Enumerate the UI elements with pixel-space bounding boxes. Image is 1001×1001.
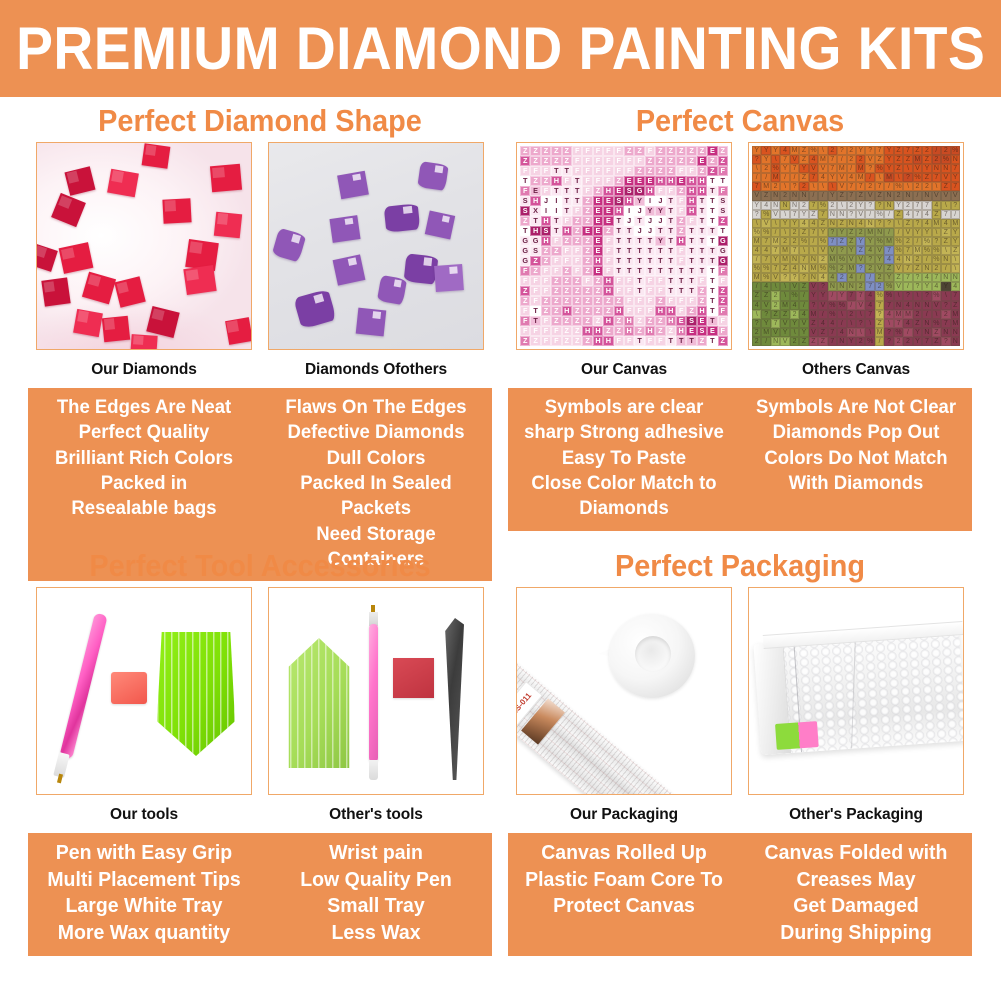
canvas-cell: Z: [603, 326, 613, 336]
canvas-cell: N: [799, 264, 808, 273]
canvas-cell: S: [520, 206, 530, 216]
canvas-cell: %: [894, 237, 903, 246]
canvas-cell: \: [809, 246, 818, 255]
canvas-cell: M: [884, 173, 893, 182]
canvas-cell: M: [752, 237, 761, 246]
canvas-cell: T: [624, 236, 634, 246]
canvas-cell: H: [697, 306, 707, 316]
canvas-cell: F: [718, 266, 728, 276]
canvas-cell: F: [530, 286, 540, 296]
canvas-cell: 2: [818, 255, 827, 264]
canvas-cell: Z: [593, 276, 603, 286]
canvas-cell: 7: [847, 291, 856, 300]
small-tray-thin-pen-tweezers-photo: [268, 587, 484, 795]
canvas-cell: Y: [799, 164, 808, 173]
canvas-cell: F: [593, 166, 603, 176]
canvas-cell: F: [582, 186, 592, 196]
comparison-cell-others: YYY4MZ%\2?2Y?7YZ7Z2/2%?Y\7VZ4M7/22VZYZZM…: [748, 142, 964, 388]
canvas-cell: Z: [818, 337, 827, 346]
canvas-cell: T: [530, 316, 540, 326]
canvas-cell: Z: [562, 336, 572, 346]
canvas-cell: V: [828, 246, 837, 255]
feature-list-ours: Canvas Rolled UpPlastic Foam Core ToProt…: [514, 840, 734, 947]
canvas-cell: ?: [847, 210, 856, 219]
canvas-cell: 7: [799, 255, 808, 264]
feature-line: Large White Tray: [34, 893, 254, 920]
canvas-cell: J: [541, 196, 551, 206]
canvas-cell: %: [894, 246, 903, 255]
canvas-cell: /: [847, 164, 856, 173]
canvas-symbol-grid: ZZZZZFFFFFZZFZZZZZEZZZZZZFFFFFFFZZZZZEZZ…: [520, 146, 728, 346]
canvas-cell: T: [520, 226, 530, 236]
canvas-cell: Z: [894, 273, 903, 282]
canvas-cell: Z: [582, 316, 592, 326]
canvas-cell: ?: [875, 310, 884, 319]
canvas-cell: T: [697, 266, 707, 276]
canvas-cell: V: [780, 337, 789, 346]
canvas-cell: F: [541, 316, 551, 326]
comparison-cell-ours: Our Diamonds: [36, 142, 252, 388]
canvas-cell: H: [686, 176, 696, 186]
canvas-cell: G: [530, 236, 540, 246]
canvas-cell: ?: [865, 255, 874, 264]
canvas-cell: 7: [875, 301, 884, 310]
canvas-cell: Z: [922, 155, 931, 164]
canvas-cell: 7: [951, 182, 960, 191]
canvas-cell: \: [884, 319, 893, 328]
canvas-cell: F: [572, 156, 582, 166]
canvas-cell: %: [818, 237, 827, 246]
canvas-cell: Z: [686, 146, 696, 156]
canvas-cell: Z: [697, 296, 707, 306]
canvas-cell: %: [875, 291, 884, 300]
canvas-cell: %: [875, 210, 884, 219]
pink-pen-green-tray-wax-photo: [36, 587, 252, 795]
canvas-cell: N: [941, 164, 950, 173]
canvas-cell: 4: [865, 246, 874, 255]
canvas-cell: H: [614, 206, 624, 216]
canvas-cell: ?: [941, 301, 950, 310]
canvas-cell: 4: [884, 310, 893, 319]
canvas-cell: Y: [951, 173, 960, 182]
canvas-cell: Z: [551, 156, 561, 166]
canvas-cell: M: [780, 255, 789, 264]
canvas-cell: 2: [828, 201, 837, 210]
feature-line: During Shipping: [746, 920, 966, 947]
canvas-cell: 7: [828, 164, 837, 173]
canvas-cell: Y: [913, 228, 922, 237]
canvas-cell: Z: [541, 176, 551, 186]
canvas-cell: Z: [541, 306, 551, 316]
canvas-cell: N: [941, 328, 950, 337]
canvas-cell: T: [666, 266, 676, 276]
canvas-cell: Z: [593, 316, 603, 326]
canvas-cell: Z: [707, 166, 717, 176]
canvas-cell: F: [603, 176, 613, 186]
canvas-cell: V: [837, 182, 846, 191]
canvas-cell: F: [551, 336, 561, 346]
canvas-cell: F: [582, 166, 592, 176]
feature-line: Plastic Foam Core To: [514, 867, 734, 894]
canvas-cell: Z: [771, 310, 780, 319]
canvas-cell: T: [707, 176, 717, 186]
canvas-cell: T: [676, 336, 686, 346]
canvas-cell: 7: [828, 337, 837, 346]
canvas-cell: 2: [865, 182, 874, 191]
canvas-cell: E: [603, 196, 613, 206]
canvas-cell: 7: [771, 319, 780, 328]
canvas-cell: N: [828, 282, 837, 291]
canvas-cell: M: [865, 228, 874, 237]
canvas-cell: T: [562, 206, 572, 216]
canvas-cell: E: [593, 266, 603, 276]
canvas-cell: 4: [903, 210, 912, 219]
canvas-cell: V: [818, 246, 827, 255]
canvas-cell: T: [666, 226, 676, 236]
canvas-cell: G: [718, 236, 728, 246]
canvas-cell: ?: [932, 237, 941, 246]
canvas-cell: T: [686, 236, 696, 246]
canvas-cell: F: [603, 156, 613, 166]
feature-line: Diamonds Pop Out: [746, 420, 966, 445]
canvas-cell: 4: [932, 201, 941, 210]
cell-caption: Other's Packaging: [748, 795, 964, 833]
canvas-cell: /: [875, 337, 884, 346]
canvas-cell: F: [676, 246, 686, 256]
canvas-cell: M: [828, 255, 837, 264]
canvas-cell: /: [865, 173, 874, 182]
infographic-page: PREMIUM DIAMOND PAINTING KITS Perfect Di…: [0, 0, 1001, 1001]
canvas-cell: T: [686, 276, 696, 286]
canvas-cell: Z: [582, 306, 592, 316]
canvas-cell: H: [624, 316, 634, 326]
canvas-cell: Z: [530, 176, 540, 186]
canvas-cell: F: [541, 266, 551, 276]
canvas-cell: S: [686, 316, 696, 326]
canvas-cell: 4: [809, 155, 818, 164]
canvas-cell: 4: [847, 173, 856, 182]
canvas-cell: F: [634, 296, 644, 306]
canvas-cell: 4: [837, 328, 846, 337]
canvas-cell: Z: [761, 291, 770, 300]
canvas-cell: F: [676, 306, 686, 316]
canvas-cell: Z: [686, 156, 696, 166]
canvas-cell: \: [837, 201, 846, 210]
canvas-cell: V: [771, 273, 780, 282]
canvas-cell: F: [624, 156, 634, 166]
canvas-cell: T: [572, 196, 582, 206]
canvas-cell: Z: [634, 166, 644, 176]
canvas-cell: Z: [572, 236, 582, 246]
canvas-cell: \: [771, 282, 780, 291]
canvas-cell: M: [847, 264, 856, 273]
canvas-cell: J: [624, 216, 634, 226]
canvas-cell: Y: [655, 236, 665, 246]
canvas-cell: 4: [865, 301, 874, 310]
canvas-cell: Z: [603, 296, 613, 306]
cell-caption: Other's tools: [268, 795, 484, 833]
canvas-cell: F: [614, 276, 624, 286]
comparison-cell-ours: SS-011 Our Packaging: [516, 587, 732, 833]
canvas-cell: Y: [856, 146, 865, 155]
canvas-cell: Z: [551, 246, 561, 256]
canvas-cell: ?: [941, 337, 950, 346]
canvas-cell: 4: [941, 219, 950, 228]
canvas-cell: F: [634, 306, 644, 316]
canvas-cell: \: [856, 310, 865, 319]
canvas-cell: F: [572, 166, 582, 176]
canvas-cell: Y: [818, 228, 827, 237]
canvas-cell: F: [520, 306, 530, 316]
canvas-cell: 7: [790, 246, 799, 255]
canvas-cell: Z: [809, 337, 818, 346]
canvas-cell: %: [894, 182, 903, 191]
canvas-cell: \: [780, 182, 789, 191]
canvas-cell: Z: [562, 286, 572, 296]
canvas-cell: T: [707, 336, 717, 346]
canvas-cell: H: [593, 336, 603, 346]
canvas-cell: T: [666, 236, 676, 246]
canvas-cell: H: [655, 176, 665, 186]
canvas-cell: 2: [875, 282, 884, 291]
canvas-cell: ?: [913, 282, 922, 291]
canvas-cell: 4: [799, 219, 808, 228]
canvas-cell: M: [771, 173, 780, 182]
canvas-cell: 2: [847, 310, 856, 319]
feature-line: Flaws On The Edges: [266, 395, 486, 420]
canvas-cell: F: [551, 326, 561, 336]
canvas-cell: 2: [856, 155, 865, 164]
canvas-cell: I: [551, 206, 561, 216]
canvas-cell: T: [572, 186, 582, 196]
canvas-cell: 7: [790, 210, 799, 219]
canvas-cell: 4: [799, 310, 808, 319]
canvas-cell: Z: [875, 155, 884, 164]
canvas-cell: T: [634, 276, 644, 286]
canvas-cell: F: [676, 256, 686, 266]
canvas-cell: E: [530, 186, 540, 196]
comparison-pair: Our tools Other's tools: [20, 587, 500, 833]
section-canvas: Perfect Canvas ZZZZZFFFFFZZFZZZZZEZZZZZZ…: [500, 100, 980, 531]
canvas-cell: ?: [884, 219, 893, 228]
canvas-cell: \: [903, 164, 912, 173]
canvas-cell: 7: [922, 337, 931, 346]
canvas-cell: Z: [520, 146, 530, 156]
canvas-cell: V: [752, 191, 761, 200]
canvas-cell: F: [572, 256, 582, 266]
canvas-cell: T: [707, 296, 717, 306]
canvas-cell: Z: [520, 296, 530, 306]
canvas-cell: Z: [809, 210, 818, 219]
canvas-cell: \: [894, 173, 903, 182]
canvas-cell: Z: [718, 156, 728, 166]
canvas-cell: Y: [790, 319, 799, 328]
canvas-cell: M: [875, 328, 884, 337]
pink-symbol-grid-canvas-photo: ZZZZZFFFFFZZFZZZZZEZZZZZZFFFFFFFZZZZZEZZ…: [516, 142, 732, 350]
canvas-cell: 2: [780, 237, 789, 246]
canvas-cell: E: [593, 196, 603, 206]
canvas-cell: Z: [941, 182, 950, 191]
canvas-cell: 2: [941, 146, 950, 155]
canvas-cell: N: [951, 328, 960, 337]
canvas-cell: N: [884, 191, 893, 200]
canvas-cell: 7: [847, 191, 856, 200]
canvas-cell: %: [951, 146, 960, 155]
section-packaging: Perfect Packaging SS-011 Our: [500, 545, 980, 956]
canvas-cell: Y: [761, 155, 770, 164]
canvas-cell: Y: [752, 201, 761, 210]
canvas-cell: \: [941, 201, 950, 210]
canvas-cell: N: [771, 337, 780, 346]
canvas-cell: F: [645, 336, 655, 346]
canvas-cell: 7: [790, 164, 799, 173]
canvas-cell: Z: [847, 237, 856, 246]
canvas-cell: Z: [551, 316, 561, 326]
cell-caption: Diamonds Ofothers: [268, 350, 484, 388]
canvas-cell: Z: [614, 176, 624, 186]
canvas-cell: ?: [875, 201, 884, 210]
canvas-cell: Y: [761, 319, 770, 328]
canvas-cell: Z: [761, 191, 770, 200]
canvas-cell: Z: [837, 237, 846, 246]
canvas-cell: Y: [752, 146, 761, 155]
canvas-cell: Z: [707, 156, 717, 166]
canvas-cell: E: [593, 206, 603, 216]
canvas-cell: \: [894, 291, 903, 300]
canvas-cell: M: [752, 273, 761, 282]
canvas-cell: 4: [865, 291, 874, 300]
canvas-cell: F: [572, 266, 582, 276]
canvas-cell: T: [666, 276, 676, 286]
canvas-cell: T: [551, 166, 561, 176]
canvas-cell: T: [614, 216, 624, 226]
cell-caption: Our Diamonds: [36, 350, 252, 388]
canvas-cell: Y: [913, 337, 922, 346]
canvas-cell: Z: [697, 146, 707, 156]
rolled-canvas-tube-foam-core-photo: SS-011: [516, 587, 732, 795]
canvas-cell: T: [666, 246, 676, 256]
canvas-cell: N: [884, 201, 893, 210]
canvas-cell: N: [951, 155, 960, 164]
canvas-cell: T: [614, 266, 624, 276]
canvas-cell: Z: [799, 337, 808, 346]
canvas-cell: ?: [913, 273, 922, 282]
canvas-cell: 2: [894, 191, 903, 200]
canvas-cell: Z: [718, 296, 728, 306]
canvas-cell: 7: [828, 237, 837, 246]
canvas-cell: Z: [780, 310, 789, 319]
canvas-cell: T: [666, 216, 676, 226]
canvas-cell: G: [520, 236, 530, 246]
canvas-cell: F: [676, 296, 686, 306]
comparison-cell-ours: Our tools: [36, 587, 252, 833]
canvas-cell: ?: [761, 310, 770, 319]
canvas-cell: Y: [780, 164, 789, 173]
canvas-cell: N: [837, 337, 846, 346]
canvas-cell: M: [856, 173, 865, 182]
canvas-cell: F: [551, 236, 561, 246]
canvas-cell: \: [856, 328, 865, 337]
canvas-cell: Z: [614, 326, 624, 336]
canvas-cell: 4: [922, 210, 931, 219]
section-title: Perfect Canvas: [517, 100, 963, 142]
canvas-cell: T: [655, 246, 665, 256]
canvas-cell: H: [686, 206, 696, 216]
feature-line: Colors Do Not Match: [746, 446, 966, 471]
canvas-cell: Y: [634, 196, 644, 206]
canvas-cell: ?: [837, 246, 846, 255]
canvas-cell: V: [847, 255, 856, 264]
canvas-cell: 7: [951, 164, 960, 173]
canvas-cell: Z: [593, 296, 603, 306]
canvas-cell: 2: [856, 228, 865, 237]
canvas-cell: 4: [761, 246, 770, 255]
canvas-cell: Y: [847, 246, 856, 255]
canvas-cell: %: [828, 310, 837, 319]
canvas-cell: F: [530, 326, 540, 336]
canvas-cell: 2: [828, 146, 837, 155]
feature-line: Small Tray: [266, 893, 486, 920]
canvas-cell: T: [707, 196, 717, 206]
folded-canvas-bubble-mailer-photo: [748, 587, 964, 795]
canvas-cell: E: [603, 216, 613, 226]
cell-caption: Others Canvas: [748, 350, 964, 388]
canvas-cell: T: [697, 226, 707, 236]
canvas-cell: \: [780, 282, 789, 291]
cell-caption: Our Packaging: [516, 795, 732, 833]
canvas-cell: N: [780, 201, 789, 210]
canvas-cell: Z: [551, 146, 561, 156]
canvas-cell: T: [707, 276, 717, 286]
feature-line: Protect Canvas: [514, 893, 734, 920]
contents-peeking: [775, 721, 819, 750]
canvas-cell: E: [614, 186, 624, 196]
canvas-cell: F: [614, 286, 624, 296]
feature-line: Less Wax: [266, 920, 486, 947]
canvas-cell: V: [818, 301, 827, 310]
canvas-cell: F: [603, 146, 613, 156]
canvas-cell: T: [707, 256, 717, 266]
canvas-cell: Z: [634, 316, 644, 326]
cell-caption: Our tools: [36, 795, 252, 833]
canvas-cell: Z: [932, 337, 941, 346]
canvas-cell: 2: [771, 301, 780, 310]
canvas-cell: /: [903, 282, 912, 291]
canvas-cell: H: [666, 316, 676, 326]
canvas-cell: T: [707, 206, 717, 216]
canvas-cell: T: [520, 176, 530, 186]
canvas-cell: T: [697, 256, 707, 266]
canvas-cell: F: [645, 306, 655, 316]
canvas-cell: M: [884, 237, 893, 246]
canvas-cell: Z: [666, 156, 676, 166]
canvas-cell: T: [707, 316, 717, 326]
canvas-cell: \: [941, 291, 950, 300]
canvas-cell: X: [530, 206, 540, 216]
canvas-cell: Z: [634, 326, 644, 336]
canvas-cell: 4: [818, 273, 827, 282]
canvas-cell: F: [666, 296, 676, 306]
canvas-cell: F: [686, 296, 696, 306]
canvas-cell: T: [686, 286, 696, 296]
canvas-cell: F: [593, 156, 603, 166]
canvas-cell: 7: [752, 182, 761, 191]
canvas-cell: V: [809, 328, 818, 337]
canvas-cell: T: [686, 266, 696, 276]
canvas-cell: Z: [530, 266, 540, 276]
canvas-cell: Z: [572, 216, 582, 226]
red-square-diamonds-photo: [36, 142, 252, 350]
